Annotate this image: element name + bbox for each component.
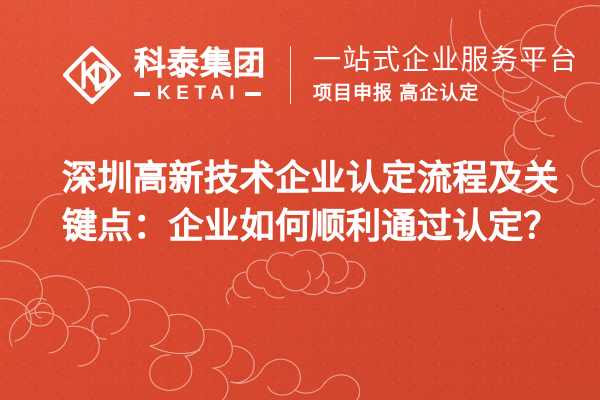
brand-name-en-row: KETAI <box>134 84 266 103</box>
brand-header: 科泰集团 KETAI 一站式企业服务平台 项目申报 高企认定 <box>62 38 579 112</box>
dash-right-icon <box>245 92 261 96</box>
page-title: 深圳高新技术企业认定流程及关键点：企业如何顺利通过认定？ <box>62 155 562 252</box>
tagline-sub: 项目申报 高企认定 <box>313 83 579 106</box>
vertical-divider <box>290 46 291 104</box>
tagline-block: 一站式企业服务平台 项目申报 高企认定 <box>313 44 579 106</box>
brand-name-en: KETAI <box>157 84 240 103</box>
dash-left-icon <box>134 92 150 96</box>
brand-wordmark: 科泰集团 KETAI <box>134 47 266 104</box>
ketai-logo-icon <box>62 45 122 105</box>
promo-banner: 科泰集团 KETAI 一站式企业服务平台 项目申报 高企认定 深圳高新技术企业认… <box>0 0 600 400</box>
brand-name-cn: 科泰集团 <box>134 47 266 81</box>
tagline-main: 一站式企业服务平台 <box>313 44 579 76</box>
